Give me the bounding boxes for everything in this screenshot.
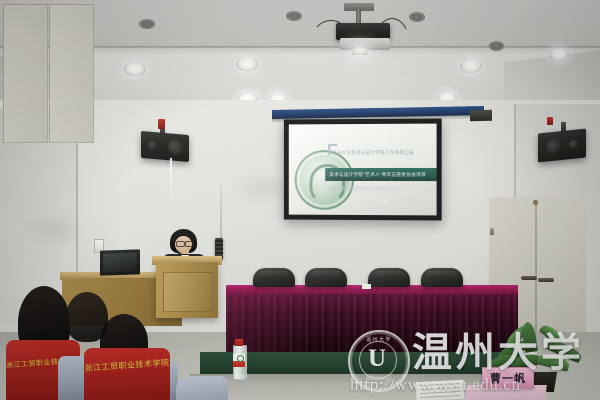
head-table-skirt [226,294,518,358]
alarm-light-right [547,117,553,125]
door-leaf-right[interactable] [49,4,94,143]
screen-surface: 温州大学美术与设计学院工作项目汇报 美术与设计学院“艺术人”青年志愿者协会项目 [289,124,437,216]
podium-front-panel [163,272,213,312]
stage-chair[interactable] [368,268,410,287]
microphone-cable [220,186,222,240]
door-handle-left[interactable] [521,276,537,280]
downlight-off [409,12,425,22]
paper-document [416,380,465,400]
speaker-bracket-right [561,122,566,132]
laptop-screen-glow [103,252,137,272]
slide-header-label: 温州大学美术与设计学院工作项目汇报 [332,149,428,156]
door-handle-right[interactable] [538,278,554,282]
speaker-cable-left [170,158,172,206]
photograph: 温州大学美术与设计学院工作项目汇报 美术与设计学院“艺术人”青年志愿者协会项目 [0,0,600,400]
eyeglass-left [176,241,185,247]
slide-title-band: 美术与设计学院“艺术人”青年志愿者协会项目 [325,168,436,181]
slide-band-label: 美术与设计学院“艺术人”青年志愿者协会项目 [325,171,426,177]
wall-speaker-right [538,128,586,162]
paper-slip [362,284,371,289]
slide-header-text: 温州大学美术与设计学院工作项目汇报 [332,149,428,156]
downlight-off [139,19,155,29]
downlight-on [460,59,482,73]
name-placard-text: 曹一帆 [490,370,526,386]
eyeglass-right [185,241,194,247]
downlight-off [489,41,504,51]
stage-chair[interactable] [305,268,347,287]
projection-screen: 温州大学美术与设计学院工作项目汇报 美术与设计学院“艺术人”青年志愿者协会项目 [284,118,442,220]
door-center-seam [535,201,537,340]
stage-chair[interactable] [253,268,295,287]
door-leaf-left[interactable] [3,4,48,143]
bottle-cap [235,339,243,346]
wall-speaker-left [141,131,189,162]
downlight-on [124,62,146,76]
attendee-vest: 浙江工贸职业技术学院 [84,348,170,400]
downlight-on [236,57,258,71]
bottle-label [233,354,245,367]
door-top-bolt [533,200,538,205]
alarm-light-left [158,119,165,129]
downlight-on [549,48,569,61]
downlight-off [286,11,302,21]
valance-end-cap [470,110,492,121]
projector-lens [352,47,368,55]
attendee-vest-text: 浙江工贸职业技术学院 [84,357,171,374]
attendee-hair [66,292,108,342]
stage-chair[interactable] [421,268,463,287]
attendee-arm [176,376,228,400]
slide-subline [328,186,434,191]
name-placard: 曹一帆 [482,367,534,389]
door-hinge-upper [490,228,494,235]
